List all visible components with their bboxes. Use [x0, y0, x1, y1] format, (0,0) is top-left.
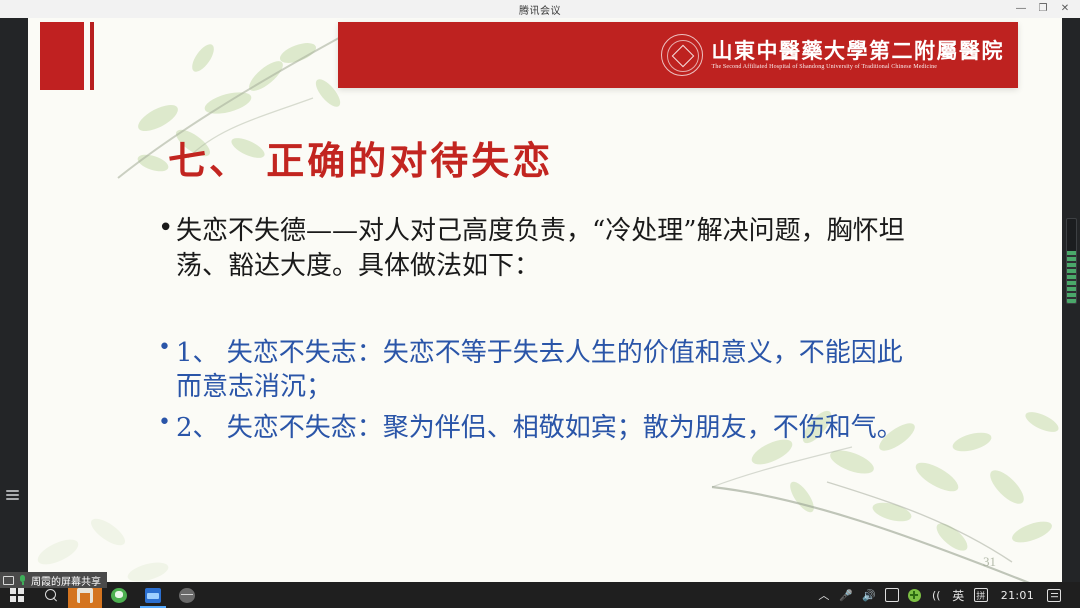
- tray-overflow-icon[interactable]: ︿: [817, 582, 830, 608]
- wechat-icon: [111, 588, 127, 603]
- microphone-icon: [18, 575, 27, 586]
- screen-share-label: 周霞的屏幕共享: [31, 573, 101, 588]
- screen-share-chip: 周霞的屏幕共享: [0, 572, 107, 588]
- action-center-icon[interactable]: [1047, 589, 1061, 602]
- list-menu-icon[interactable]: [6, 486, 23, 503]
- windows-taskbar: ︿ 🎤 🔊 (( 英 拼 21:01: [0, 582, 1080, 608]
- globe-icon: [179, 588, 195, 603]
- screen-root: 腾讯会议 — ❐ ✕: [0, 0, 1080, 608]
- taskbar-item-meeting[interactable]: [136, 582, 170, 608]
- system-tray: ︿ 🎤 🔊 (( 英 拼 21:01: [817, 582, 1080, 608]
- left-rail: [0, 18, 28, 582]
- bullet-item-1: • 1、 失恋不失志：失恋不等于失去人生的价值和意义，不能因此而意志消沉；: [158, 336, 918, 406]
- hospital-seal-icon: [661, 34, 703, 76]
- shared-slide: 山東中醫藥大學第二附屬醫院 The Second Affiliated Hosp…: [28, 18, 1062, 582]
- show-desktop-button[interactable]: [1070, 582, 1074, 608]
- bullet-item-2: • 2、 失恋不失态：聚为伴侣、相敬如宾；散为朋友，不伤和气。: [158, 411, 918, 446]
- red-accent-line: [90, 22, 94, 90]
- bullet-marker: •: [158, 214, 176, 243]
- bullet-item-0: • 失恋不失德——对人对己高度负责，“冷处理”解决问题，胸怀坦荡、豁达大度。具体…: [158, 214, 918, 284]
- meeting-app-icon: [145, 588, 161, 603]
- leaf-decoration-bottom-left: [28, 482, 248, 582]
- display-icon[interactable]: [885, 588, 899, 602]
- network-icon[interactable]: ((: [930, 582, 943, 608]
- bullet-text: 失恋不失德——对人对己高度负责，“冷处理”解决问题，胸怀坦荡、豁达大度。具体做法…: [176, 214, 918, 284]
- minimize-icon[interactable]: —: [1010, 0, 1032, 18]
- window-controls: — ❐ ✕: [1010, 0, 1076, 18]
- taskbar-item-browser[interactable]: [170, 582, 204, 608]
- hospital-name-en: The Second Affiliated Hospital of Shando…: [712, 64, 1005, 70]
- bullet-text: 1、 失恋不失志：失恋不等于失去人生的价值和意义，不能因此而意志消沉；: [176, 336, 918, 406]
- search-icon: [45, 589, 58, 602]
- volume-icon[interactable]: 🔊: [862, 582, 876, 608]
- window-title-bar: 腾讯会议 — ❐ ✕: [0, 0, 1080, 18]
- bullet-marker: •: [158, 411, 176, 435]
- taskbar-clock[interactable]: 21:01: [997, 589, 1038, 602]
- red-accent-block: [40, 22, 84, 90]
- hospital-logo: 山東中醫藥大學第二附屬醫院 The Second Affiliated Hosp…: [661, 30, 1005, 80]
- ime-mode-icon[interactable]: 英: [952, 582, 965, 608]
- ime-pinyin-icon[interactable]: 拼: [974, 588, 988, 602]
- restore-icon[interactable]: ❐: [1032, 0, 1054, 18]
- bullet-text: 2、 失恋不失态：聚为伴侣、相敬如宾；散为朋友，不伤和气。: [176, 411, 918, 446]
- hospital-name-cn: 山東中醫藥大學第二附屬醫院: [712, 40, 1005, 62]
- mic-level-indicator: [1066, 218, 1077, 304]
- taskbar-item-wechat[interactable]: [102, 582, 136, 608]
- slide-title: 七、 正确的对待失恋: [168, 130, 553, 185]
- folder-icon: [77, 588, 93, 603]
- bullet-marker: •: [158, 336, 176, 360]
- windows-logo-icon: [10, 588, 24, 602]
- slide-body: • 失恋不失德——对人对己高度负责，“冷处理”解决问题，胸怀坦荡、豁达大度。具体…: [158, 214, 918, 452]
- slide-page-number: 31: [983, 554, 996, 570]
- microphone-icon[interactable]: 🎤: [839, 582, 853, 608]
- right-rail: [1062, 18, 1080, 582]
- hospital-banner: 山東中醫藥大學第二附屬醫院 The Second Affiliated Hosp…: [338, 22, 1018, 88]
- close-icon[interactable]: ✕: [1054, 0, 1076, 18]
- screen-share-icon: [3, 576, 14, 585]
- window-title: 腾讯会议: [519, 2, 561, 17]
- body-spacer: [158, 300, 918, 336]
- updater-icon[interactable]: [908, 589, 921, 602]
